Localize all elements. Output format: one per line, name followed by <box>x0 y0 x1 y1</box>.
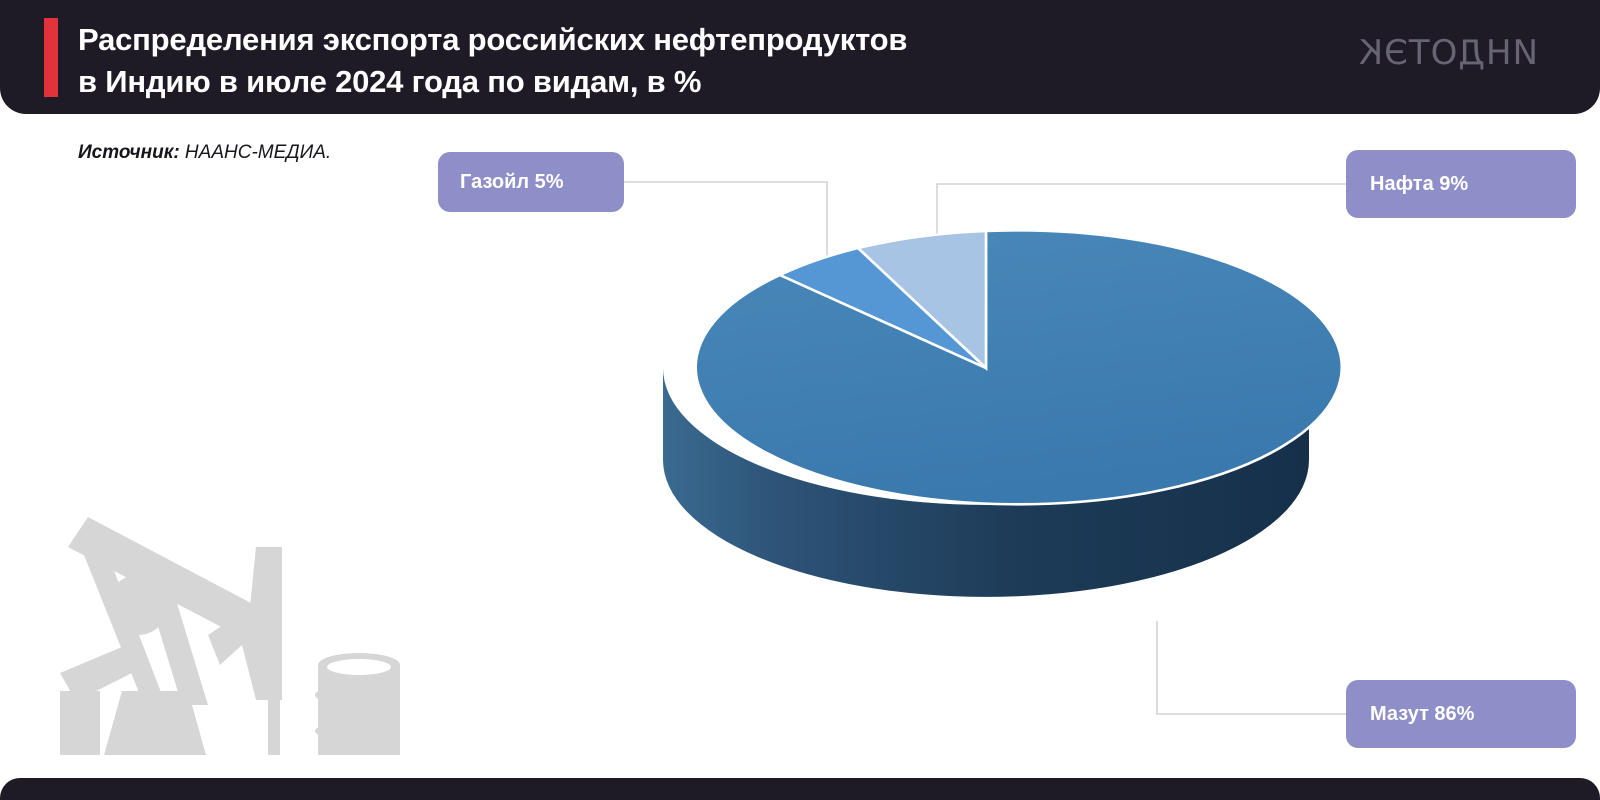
page-title: Распределения экспорта российских нефтеп… <box>78 19 1208 103</box>
pumpjack-counterweight-icon <box>108 575 168 635</box>
oil-barrel-top-icon <box>318 653 400 677</box>
pumpjack-foot-icon <box>60 691 100 755</box>
pumpjack-rod-icon <box>268 615 280 755</box>
leader-line-mazut <box>1157 621 1346 714</box>
indotek-logo: ИНДОТЭК <box>1358 33 1538 73</box>
header-bar: Распределения экспорта российских нефтеп… <box>0 0 1600 114</box>
oil-barrel-rib2-icon <box>315 721 400 741</box>
oil-barrel-top-inner-icon <box>327 659 391 675</box>
oil-barrel-rib1-icon <box>315 685 400 705</box>
callout-badge-nafta[interactable]: Нафта 9% <box>1346 150 1576 218</box>
pumpjack-horsehead-icon <box>208 547 282 700</box>
infographic-canvas: Распределения экспорта российских нефтеп… <box>0 0 1600 800</box>
callout-label-gazoil: Газойл 5% <box>460 171 564 194</box>
pumpjack-skid-icon <box>60 647 136 701</box>
leader-line-gazoil <box>624 182 827 352</box>
callout-badge-mazut[interactable]: Мазут 86% <box>1346 680 1576 748</box>
oil-barrel-body-icon <box>318 665 400 755</box>
leader-lines <box>624 182 1346 714</box>
source-value: НААНС-МЕДИА. <box>180 142 332 163</box>
pie-top-surface <box>696 230 1342 504</box>
oil-pumpjack-art <box>60 495 400 755</box>
pie-side-mazut <box>663 368 1309 597</box>
callout-label-nafta: Нафта 9% <box>1370 173 1468 196</box>
pumpjack-base-icon <box>104 691 206 755</box>
header-accent-bar <box>44 18 58 97</box>
pumpjack-mast-right-icon <box>146 587 208 705</box>
source-note: Источник: НААНС-МЕДИА. <box>78 142 331 164</box>
pumpjack-mast-left-icon <box>84 555 166 705</box>
pie-3d-side <box>663 368 1309 597</box>
source-label: Источник: <box>78 142 180 163</box>
footer-bar <box>0 778 1600 800</box>
pie-slice-nafta <box>858 231 986 368</box>
callout-label-mazut: Мазут 86% <box>1370 703 1474 726</box>
leader-line-nafta <box>937 184 1346 268</box>
callout-badge-gazoil[interactable]: Газойл 5% <box>438 152 624 212</box>
pumpjack-beam-icon <box>68 517 270 645</box>
pie-slice-mazut <box>696 230 1342 504</box>
pie-slice-gazoil <box>780 248 986 368</box>
